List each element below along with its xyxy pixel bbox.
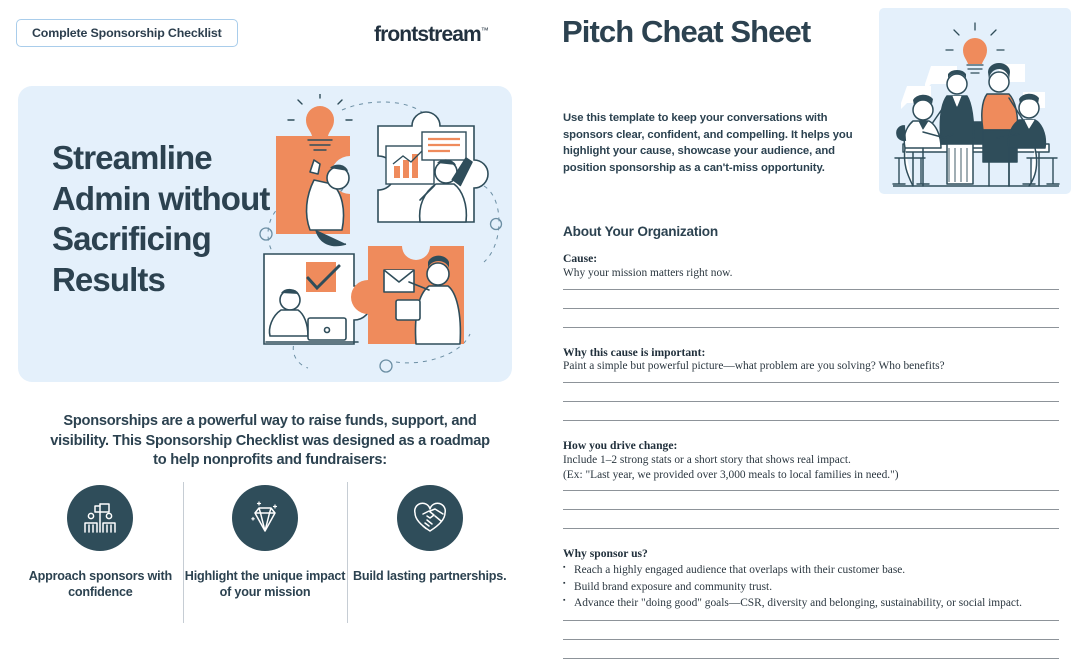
pillar-label: Approach sponsors with confidence [18,569,183,600]
pillar-build-partnerships: Build lasting partnerships. [347,480,512,625]
writing-lines[interactable] [563,382,1059,421]
left-column: Complete Sponsorship Checklist frontstre… [0,0,540,668]
pillar-approach-sponsors: Approach sponsors with confidence [18,480,183,625]
form-field-drive-change: How you drive change: Include 1–2 strong… [563,439,1059,529]
field-hint: Paint a simple but powerful picture—what… [563,359,1059,374]
writing-lines[interactable] [563,490,1059,529]
writing-line[interactable] [563,327,1059,328]
writing-line[interactable] [563,528,1059,529]
writing-lines[interactable] [563,620,1059,659]
writing-line[interactable] [563,490,1059,491]
writing-line[interactable] [563,639,1059,640]
lead-paragraph: Sponsorships are a powerful way to raise… [45,412,495,471]
flag-podium-icon-circle [67,485,133,551]
why-sponsor-bullet-list: Reach a highly engaged audience that ove… [563,562,1059,612]
diamond-icon [246,499,284,537]
logo-wordmark: frontstream [374,23,481,46]
badge-label: Complete Sponsorship Checklist [32,26,222,40]
sponsorship-checklist-page: Complete Sponsorship Checklist frontstre… [0,0,1074,668]
team-brainstorm-lightbulb-illustration [879,8,1071,194]
list-item: Build brand exposure and community trust… [563,579,1059,596]
writing-line[interactable] [563,308,1059,309]
writing-line[interactable] [563,658,1059,659]
field-label: Why sponsor us? [563,547,1059,561]
form-field-cause: Cause: Why your mission matters right no… [563,252,1059,328]
field-hint: Why your mission matters right now. [563,266,1059,281]
trademark-mark: ™ [481,26,489,35]
right-column: Pitch Cheat Sheet Use this template to k… [562,0,1074,668]
field-hint: Include 1–2 strong stats or a short stor… [563,453,1059,483]
writing-line[interactable] [563,620,1059,621]
pitch-form: Cause: Why your mission matters right no… [563,252,1059,668]
handshake-heart-icon-circle [397,485,463,551]
frontstream-logo: frontstream™ [374,23,489,47]
form-field-why-sponsor-us: Why sponsor us? Reach a highly engaged a… [563,547,1059,658]
list-item: Advance their "doing good" goals—CSR, di… [563,595,1059,612]
pillars-row: Approach sponsors with confidence [18,480,512,625]
pillar-label: Highlight the unique impact of your miss… [183,569,348,600]
field-label: Why this cause is important: [563,346,1059,360]
section-heading-about-your-organization: About Your Organization [563,224,718,239]
pillar-label: Build lasting partnerships. [353,569,506,585]
handshake-heart-icon [411,499,449,537]
field-label: Cause: [563,252,1059,266]
flag-podium-icon [81,499,119,537]
pillar-highlight-impact: Highlight the unique impact of your miss… [183,480,348,625]
complete-sponsorship-checklist-badge[interactable]: Complete Sponsorship Checklist [16,19,238,47]
writing-line[interactable] [563,509,1059,510]
writing-line[interactable] [563,382,1059,383]
diamond-icon-circle [232,485,298,551]
field-label: How you drive change: [563,439,1059,453]
puzzle-pieces-collaboration-illustration [246,94,506,379]
writing-line[interactable] [563,289,1059,290]
writing-lines[interactable] [563,289,1059,328]
writing-line[interactable] [563,401,1059,402]
intro-paragraph: Use this template to keep your conversat… [563,110,861,177]
hero-card: Streamline Admin without Sacrificing Res… [18,86,512,382]
page-title: Pitch Cheat Sheet [562,14,882,50]
list-item: Reach a highly engaged audience that ove… [563,562,1059,579]
writing-line[interactable] [563,420,1059,421]
form-field-why-important: Why this cause is important: Paint a sim… [563,346,1059,422]
